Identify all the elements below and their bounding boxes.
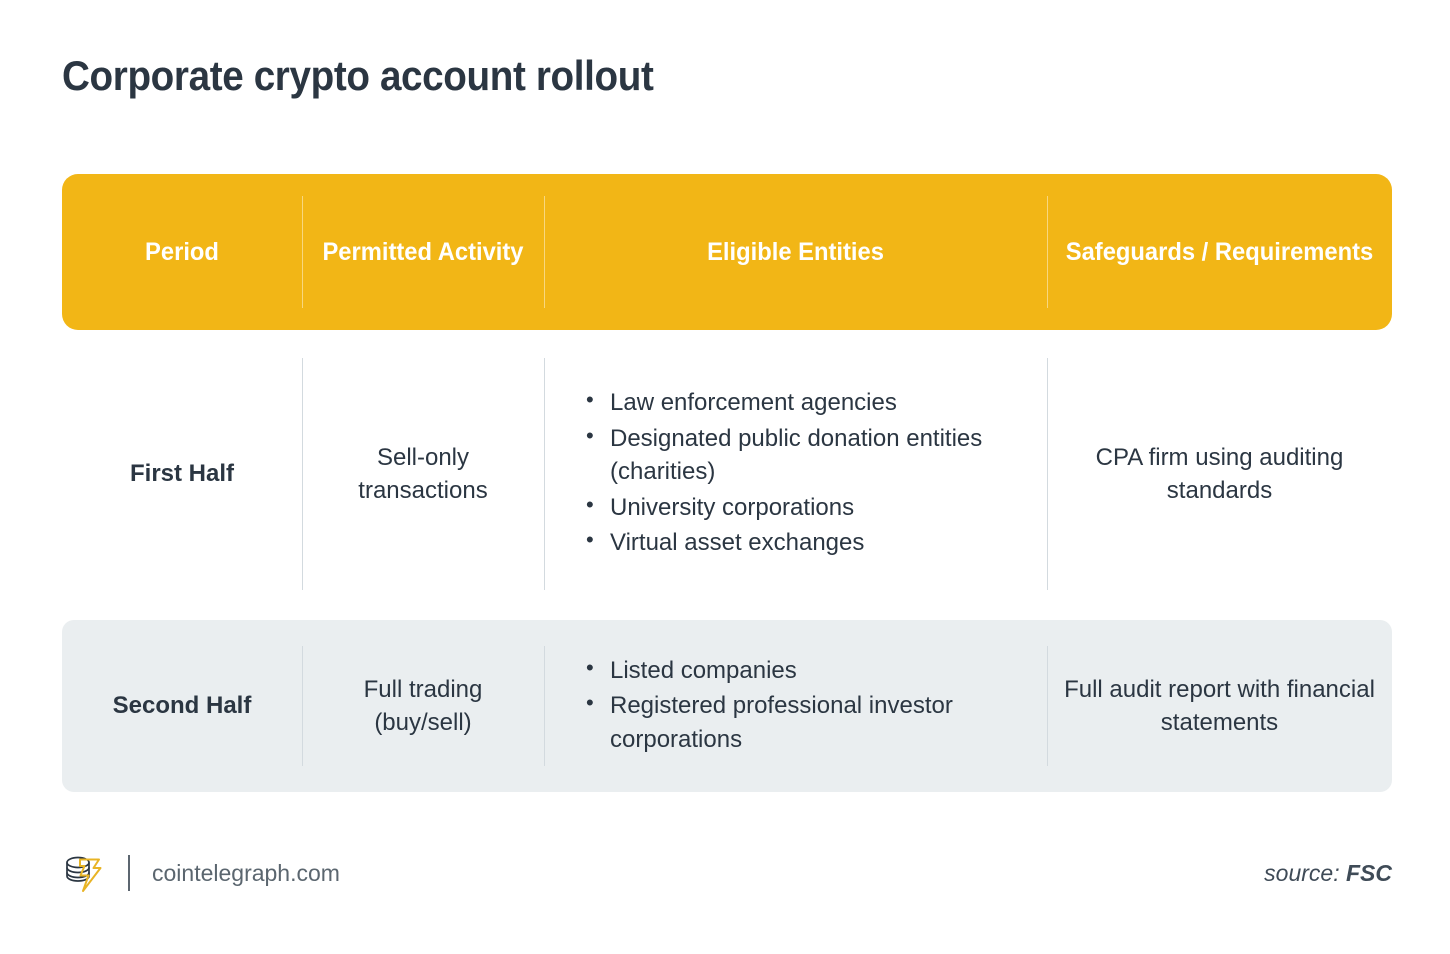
- list-item: Registered professional investor corpora…: [584, 689, 1033, 756]
- list-item: University corporations: [584, 491, 1033, 525]
- cointelegraph-logo-icon: [62, 851, 108, 895]
- row-divider-3: [1047, 646, 1048, 766]
- column-header-period: Period: [68, 237, 296, 268]
- source-label: source:: [1264, 860, 1339, 886]
- cell-safeguards: CPA firm using auditing standards: [1047, 441, 1392, 507]
- column-header-eligible-entities: Eligible Entities: [557, 237, 1035, 268]
- cell-eligible-entities: Listed companies Registered professional…: [544, 654, 1047, 759]
- footer-divider: [128, 855, 130, 891]
- row-divider-3: [1047, 358, 1048, 590]
- cell-period: Second Half: [62, 689, 302, 722]
- cell-permitted-activity: Full trading (buy/sell): [302, 673, 544, 739]
- infographic-page: Corporate crypto account rollout Period …: [0, 0, 1450, 954]
- cell-period: First Half: [62, 457, 302, 490]
- table-header-row: Period Permitted Activity Eligible Entit…: [62, 174, 1392, 330]
- source-attribution: source: FSC: [1264, 860, 1392, 887]
- cell-permitted-activity: Sell-only transactions: [302, 441, 544, 507]
- brand-block: cointelegraph.com: [62, 851, 340, 895]
- column-header-permitted-activity: Permitted Activity: [308, 237, 538, 268]
- header-divider-3: [1047, 196, 1048, 308]
- footer: cointelegraph.com source: FSC: [62, 845, 1392, 901]
- source-value: FSC: [1346, 860, 1392, 886]
- cell-eligible-entities: Law enforcement agencies Designated publ…: [544, 386, 1047, 562]
- brand-url: cointelegraph.com: [152, 860, 340, 887]
- table-row: Second Half Full trading (buy/sell) List…: [62, 620, 1392, 792]
- cell-safeguards: Full audit report with financial stateme…: [1047, 673, 1392, 739]
- list-item: Designated public donation entities (cha…: [584, 422, 1033, 489]
- header-divider-2: [544, 196, 545, 308]
- entity-list: Listed companies Registered professional…: [558, 654, 1033, 757]
- entity-list: Law enforcement agencies Designated publ…: [558, 386, 1033, 560]
- rollout-table: Period Permitted Activity Eligible Entit…: [62, 174, 1392, 792]
- list-item: Law enforcement agencies: [584, 386, 1033, 420]
- header-divider-1: [302, 196, 303, 308]
- page-title: Corporate crypto account rollout: [62, 52, 653, 100]
- row-divider-1: [302, 358, 303, 590]
- table-row: First Half Sell-only transactions Law en…: [62, 330, 1392, 618]
- row-divider-2: [544, 646, 545, 766]
- column-header-safeguards: Safeguards / Requirements: [1056, 237, 1384, 268]
- row-divider-1: [302, 646, 303, 766]
- list-item: Virtual asset exchanges: [584, 526, 1033, 560]
- list-item: Listed companies: [584, 654, 1033, 688]
- row-divider-2: [544, 358, 545, 590]
